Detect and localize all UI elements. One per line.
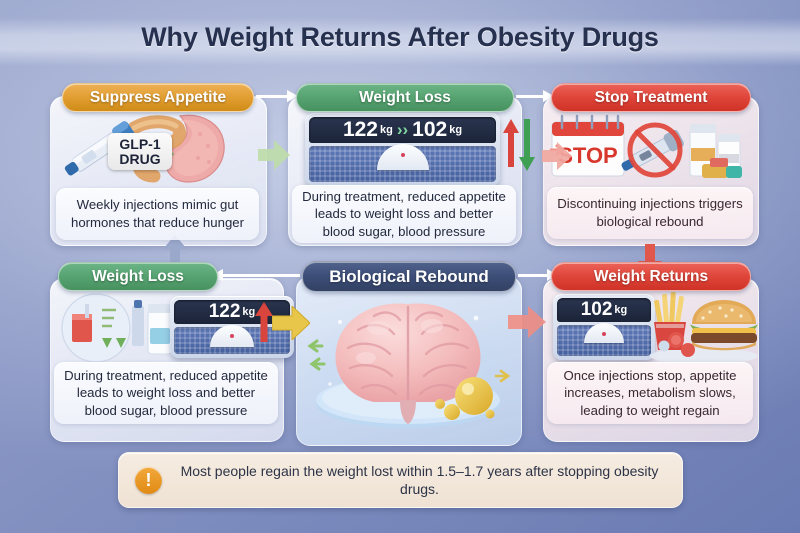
art-stop-calendar-pen-pills: STOP (550, 112, 750, 188)
weight-unit: kg (614, 304, 627, 316)
card-header-label: Biological Rebound (329, 267, 489, 287)
card-header-label: Stop Treatment (595, 89, 708, 107)
weight-end-value: 102 (412, 118, 447, 142)
connector-weight-loss-bottom-to-rebound (272, 306, 310, 345)
caption-text: Weekly injections mimic gut hormones tha… (64, 196, 251, 231)
glp1-drug-label: GLP-1 DRUG (108, 133, 172, 170)
arrow-weight-down-indicator (519, 119, 535, 176)
card-header-label: Weight Loss (92, 268, 184, 286)
caption-text: Discontinuing injections triggers biolog… (555, 195, 745, 230)
card-header-weight-returns[interactable]: Weight Returns (551, 262, 751, 291)
connector-rebound-to-weight-loss-bottom (222, 274, 300, 277)
scale-pad-returns (557, 325, 651, 356)
scale-dial (584, 323, 624, 343)
caption-weight-returns: Once injections stop, appetite increases… (547, 362, 753, 424)
caption-text: During treatment, reduced appetite leads… (300, 188, 508, 241)
scale-display-top: 122 kg ›› 102 kg (309, 117, 496, 143)
weight-value: 102 (581, 299, 613, 321)
scale-display-returns: 102 kg (557, 298, 651, 322)
arrow-weight-up-indicator (503, 119, 519, 172)
infographic-canvas: Why Weight Returns After Obesity Drugs S… (0, 0, 800, 533)
weight-start-value: 122 (343, 118, 378, 142)
card-header-stop-treatment[interactable]: Stop Treatment (551, 83, 751, 112)
card-header-biological-rebound[interactable]: Biological Rebound (302, 261, 516, 292)
caption-stop-treatment: Discontinuing injections triggers biolog… (547, 187, 753, 239)
card-header-suppress-appetite[interactable]: Suppress Appetite (62, 83, 254, 112)
connector-appetite-to-weight-loss (256, 95, 288, 98)
caption-text: Once injections stop, appetite increases… (555, 367, 745, 420)
arrow-weight-up-bottom-left (255, 302, 273, 347)
caption-weight-loss-top: During treatment, reduced appetite leads… (292, 185, 516, 243)
card-header-weight-loss-top[interactable]: Weight Loss (296, 83, 514, 112)
art-bottles-and-chart (58, 292, 178, 364)
card-header-label: Suppress Appetite (90, 89, 226, 107)
warning-glyph: ! (146, 471, 152, 489)
connector-inner-appetite-flow (258, 140, 290, 175)
card-header-label: Weight Loss (359, 89, 451, 107)
caption-weight-loss-bottom: During treatment, reduced appetite leads… (54, 362, 278, 424)
caption-suppress-appetite: Weekly injections mimic gut hormones tha… (56, 188, 259, 240)
glp1-line2: DRUG (119, 152, 160, 167)
weight-unit: kg (242, 306, 255, 318)
connector-inner-weight-loss-flow (542, 142, 572, 175)
art-scale-weight-returns: 102 kg (553, 294, 655, 360)
weight-end-unit: kg (449, 124, 462, 136)
page-title: Why Weight Returns After Obesity Drugs (0, 22, 800, 53)
footer-banner: ! Most people regain the weight lost wit… (118, 452, 683, 508)
warning-exclamation-icon: ! (135, 467, 162, 494)
connector-weight-loss-to-stop (516, 95, 544, 98)
scale-dial (210, 325, 254, 347)
connector-stop-to-weight-returns (645, 244, 655, 262)
footer-text: Most people regain the weight lost withi… (173, 462, 666, 498)
art-brain-on-disc (300, 288, 516, 440)
glp1-line1: GLP-1 (119, 137, 160, 152)
weight-value: 122 (209, 301, 241, 323)
connector-rebound-to-returns-thick (508, 306, 546, 343)
card-header-label: Weight Returns (594, 268, 708, 286)
transition-glyph: ›› (397, 120, 408, 140)
card-header-weight-loss-bottom[interactable]: Weight Loss (58, 262, 218, 291)
scale-dial (377, 144, 429, 170)
weight-start-unit: kg (380, 124, 393, 136)
scale-pad-top (309, 146, 496, 182)
art-scale-two-weights: 122 kg ›› 102 kg (305, 113, 500, 186)
connector-rebound-to-weight-returns (518, 274, 548, 277)
art-burger-fries (648, 288, 758, 364)
caption-text: During treatment, reduced appetite leads… (62, 367, 270, 420)
